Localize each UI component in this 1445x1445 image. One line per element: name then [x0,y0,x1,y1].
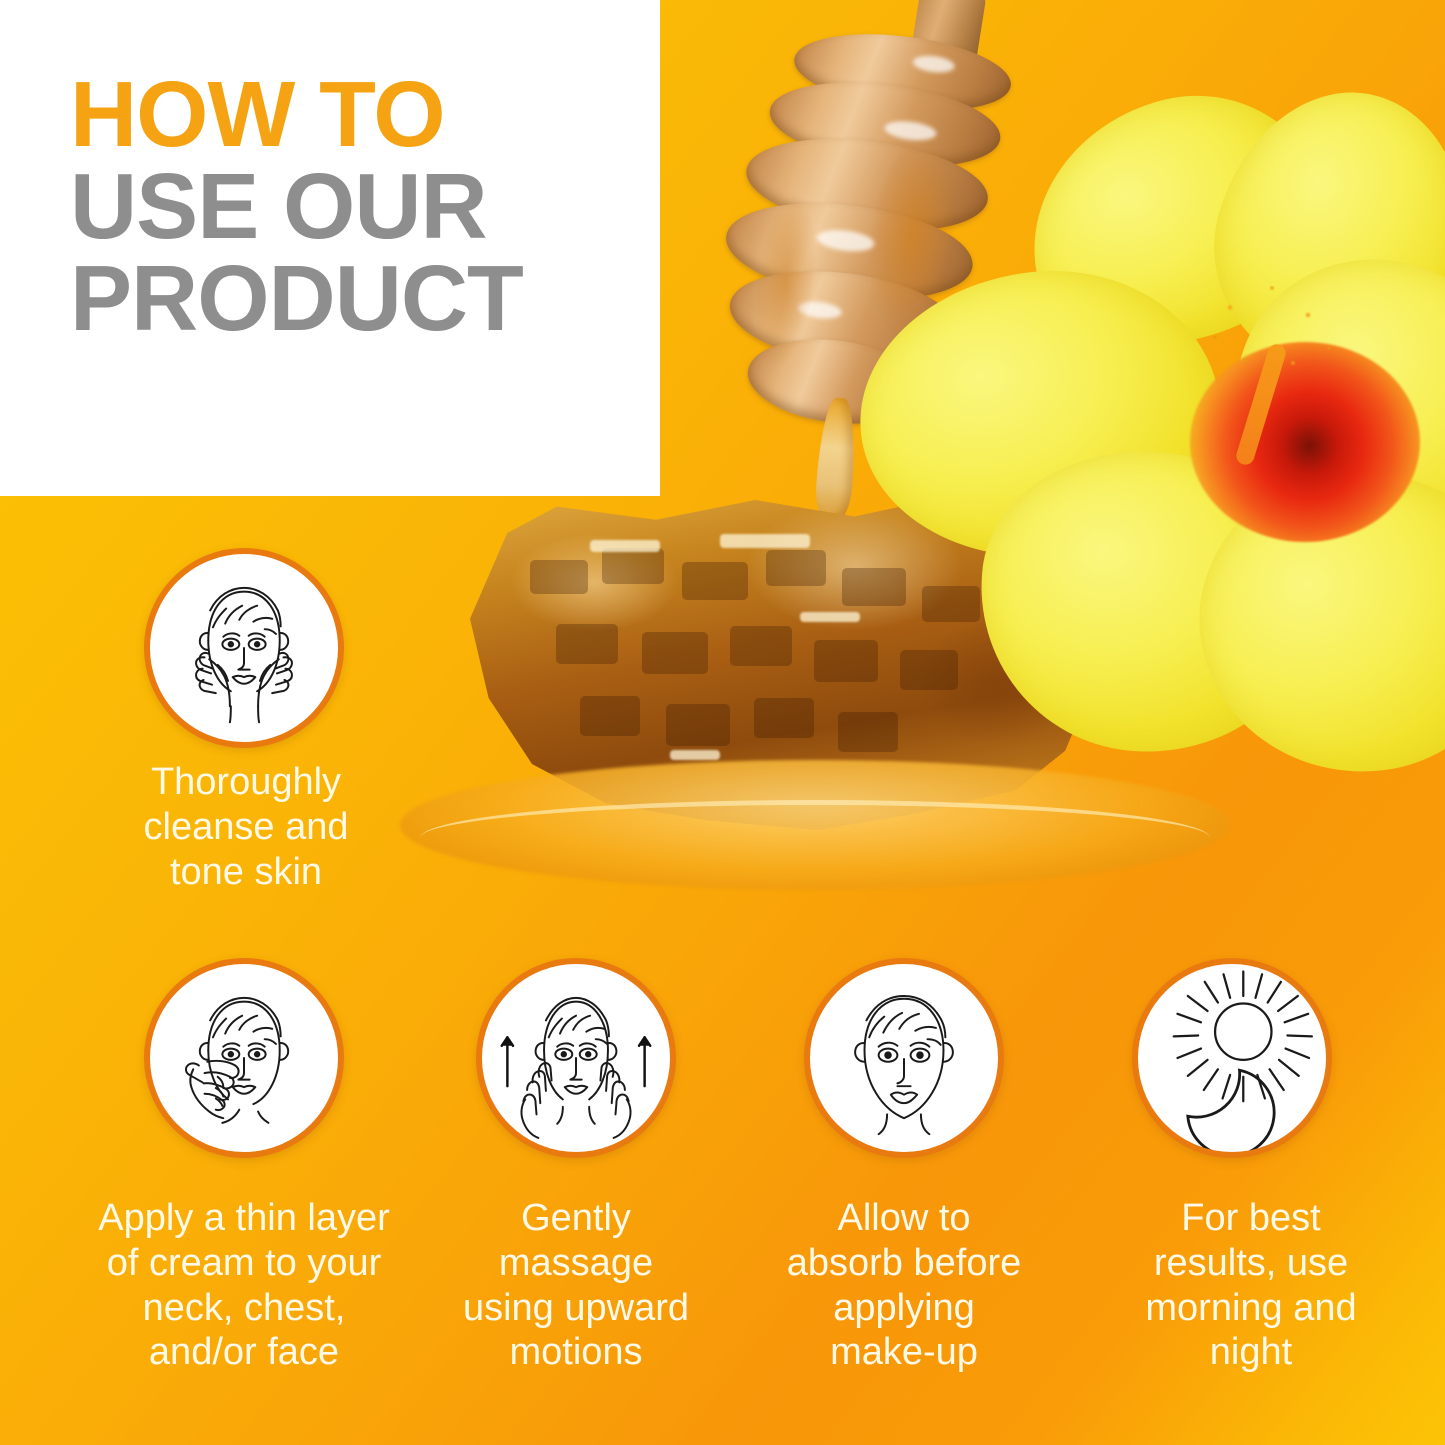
honey-pool-edge [420,800,1210,876]
caption-cleanse: Thoroughly cleanse and tone skin [64,760,428,894]
face-apply-cream-one-hand-icon [150,964,338,1152]
how-to-use-poster: HOW TO USE OUR PRODUCT [0,0,1445,1445]
step-icon-frequency [1132,958,1332,1158]
title-line-2: USE OUR [70,160,523,252]
sun-and-moon-icon [1138,964,1326,1152]
title-line-1: HOW TO [70,68,523,160]
honey-coating [712,36,1009,463]
honey-dipper-handle [910,0,987,70]
honeycomb-chunk [470,500,1090,830]
flower-center [1190,342,1420,542]
step-icon-massage [476,958,676,1158]
title-line-3: PRODUCT [70,252,523,344]
hibiscus-flower-icon [900,92,1445,792]
face-plain-icon [810,964,998,1152]
caption-apply: Apply a thin layer of cream to your neck… [46,1196,442,1375]
caption-frequency: For best results, use morning and night [1086,1196,1416,1375]
caption-massage: Gently massage using upward motions [420,1196,732,1375]
honey-dipper-icon [697,5,1016,455]
face-massage-upward-arrows-icon [482,964,670,1152]
page-title: HOW TO USE OUR PRODUCT [70,68,523,344]
honey-pool [400,760,1230,890]
honey-drip [814,397,859,524]
step-icon-absorb [804,958,1004,1158]
flower-stamen [1200,270,1350,420]
flower-style-column [1234,342,1288,467]
step-icon-cleanse [144,548,344,748]
step-icon-apply [144,958,344,1158]
caption-absorb: Allow to absorb before applying make-up [748,1196,1060,1375]
face-wash-two-hands-icon [150,554,338,742]
